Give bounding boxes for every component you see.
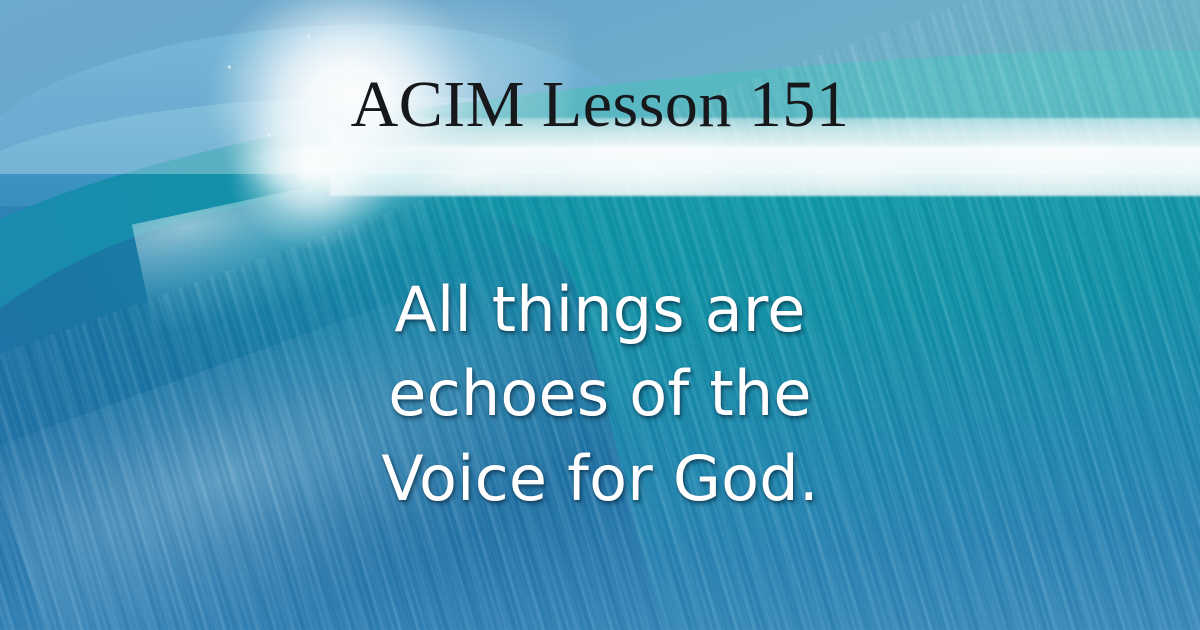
quote-line-1: All things are: [0, 268, 1200, 352]
quote-card: ACIM Lesson 151 All things are echoes of…: [0, 0, 1200, 630]
quote-line-2: echoes of the: [0, 352, 1200, 436]
page-title: ACIM Lesson 151: [0, 72, 1200, 138]
quote-line-3: Voice for God.: [0, 437, 1200, 521]
quote-block: All things are echoes of the Voice for G…: [0, 268, 1200, 521]
